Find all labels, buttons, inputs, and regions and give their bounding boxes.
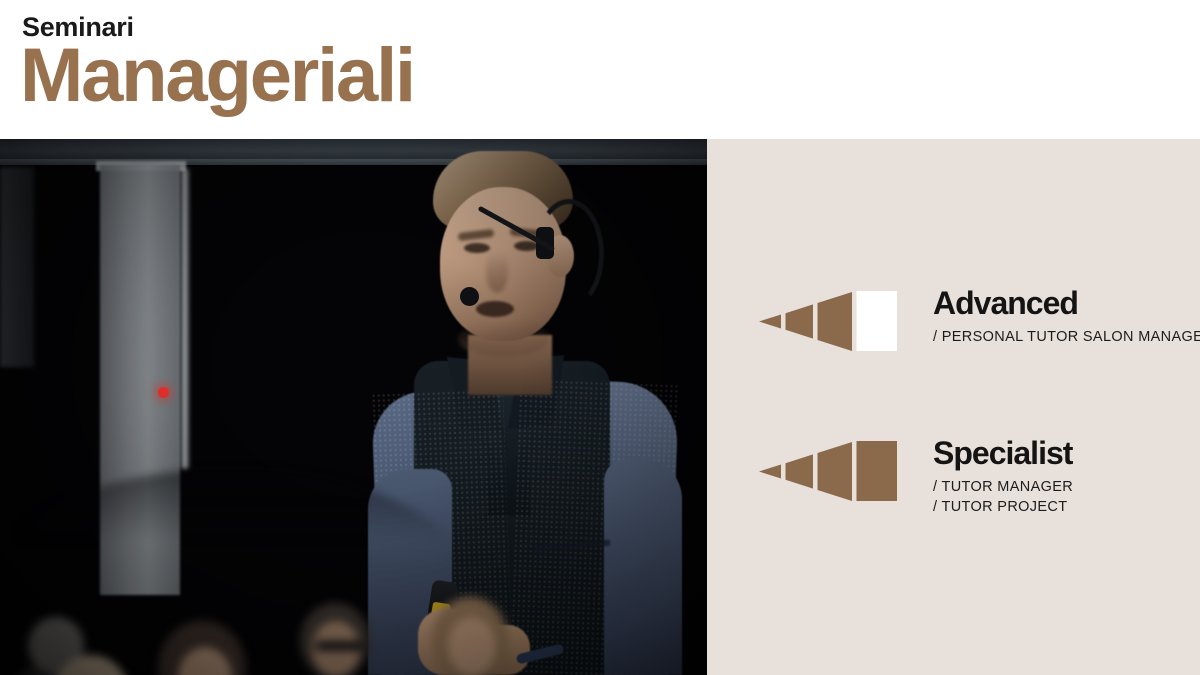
audience-group (0, 469, 460, 675)
levels-panel: Advanced / PERSONAL TUTOR SALON MANAGERN… (707, 139, 1200, 675)
audience-shadow-overlay (0, 469, 460, 675)
speaker-arm-right (604, 459, 682, 675)
page-title: Manageriali (20, 38, 414, 114)
slide-header: Seminari Manageriali (0, 0, 1200, 138)
course-line[interactable]: / PERSONAL TUTOR SALON MANAGERNEW (933, 327, 1200, 348)
course-line[interactable]: / TUTOR MANAGER (933, 477, 1073, 498)
red-led-indicator (158, 387, 169, 398)
level-specialist-name: Specialist (933, 437, 1073, 471)
slide-root: Seminari Manageriali (0, 0, 1200, 675)
speaker-chin-shadow (458, 321, 550, 357)
course-line[interactable]: / TUTOR PROJECT (933, 497, 1073, 518)
photo-light-strip (180, 169, 190, 469)
arrow-left-segments-icon (757, 441, 897, 501)
level-specialist-text: Specialist / TUTOR MANAGER / TUTOR PROJE… (933, 437, 1073, 518)
photo-left-panel (0, 167, 34, 367)
speaker-mouth (476, 301, 514, 317)
speaker-eye-left (464, 243, 490, 253)
level-specialist-courses: / TUTOR MANAGER / TUTOR PROJECT (933, 477, 1073, 518)
course-label: / TUTOR MANAGER (933, 479, 1073, 495)
course-label: / PERSONAL TUTOR SALON MANAGER (933, 329, 1200, 345)
stage-photo (0, 139, 707, 675)
level-advanced-name: Advanced (933, 287, 1200, 321)
course-label: / TUTOR PROJECT (933, 499, 1067, 515)
audience-person-5-face (448, 617, 496, 675)
level-advanced-courses: / PERSONAL TUTOR SALON MANAGERNEW (933, 327, 1200, 348)
headset-microphone-icon (460, 287, 479, 306)
speaker-nose (486, 251, 508, 293)
arrow-left-segments-icon (757, 291, 897, 351)
level-advanced-text: Advanced / PERSONAL TUTOR SALON MANAGERN… (933, 287, 1200, 347)
